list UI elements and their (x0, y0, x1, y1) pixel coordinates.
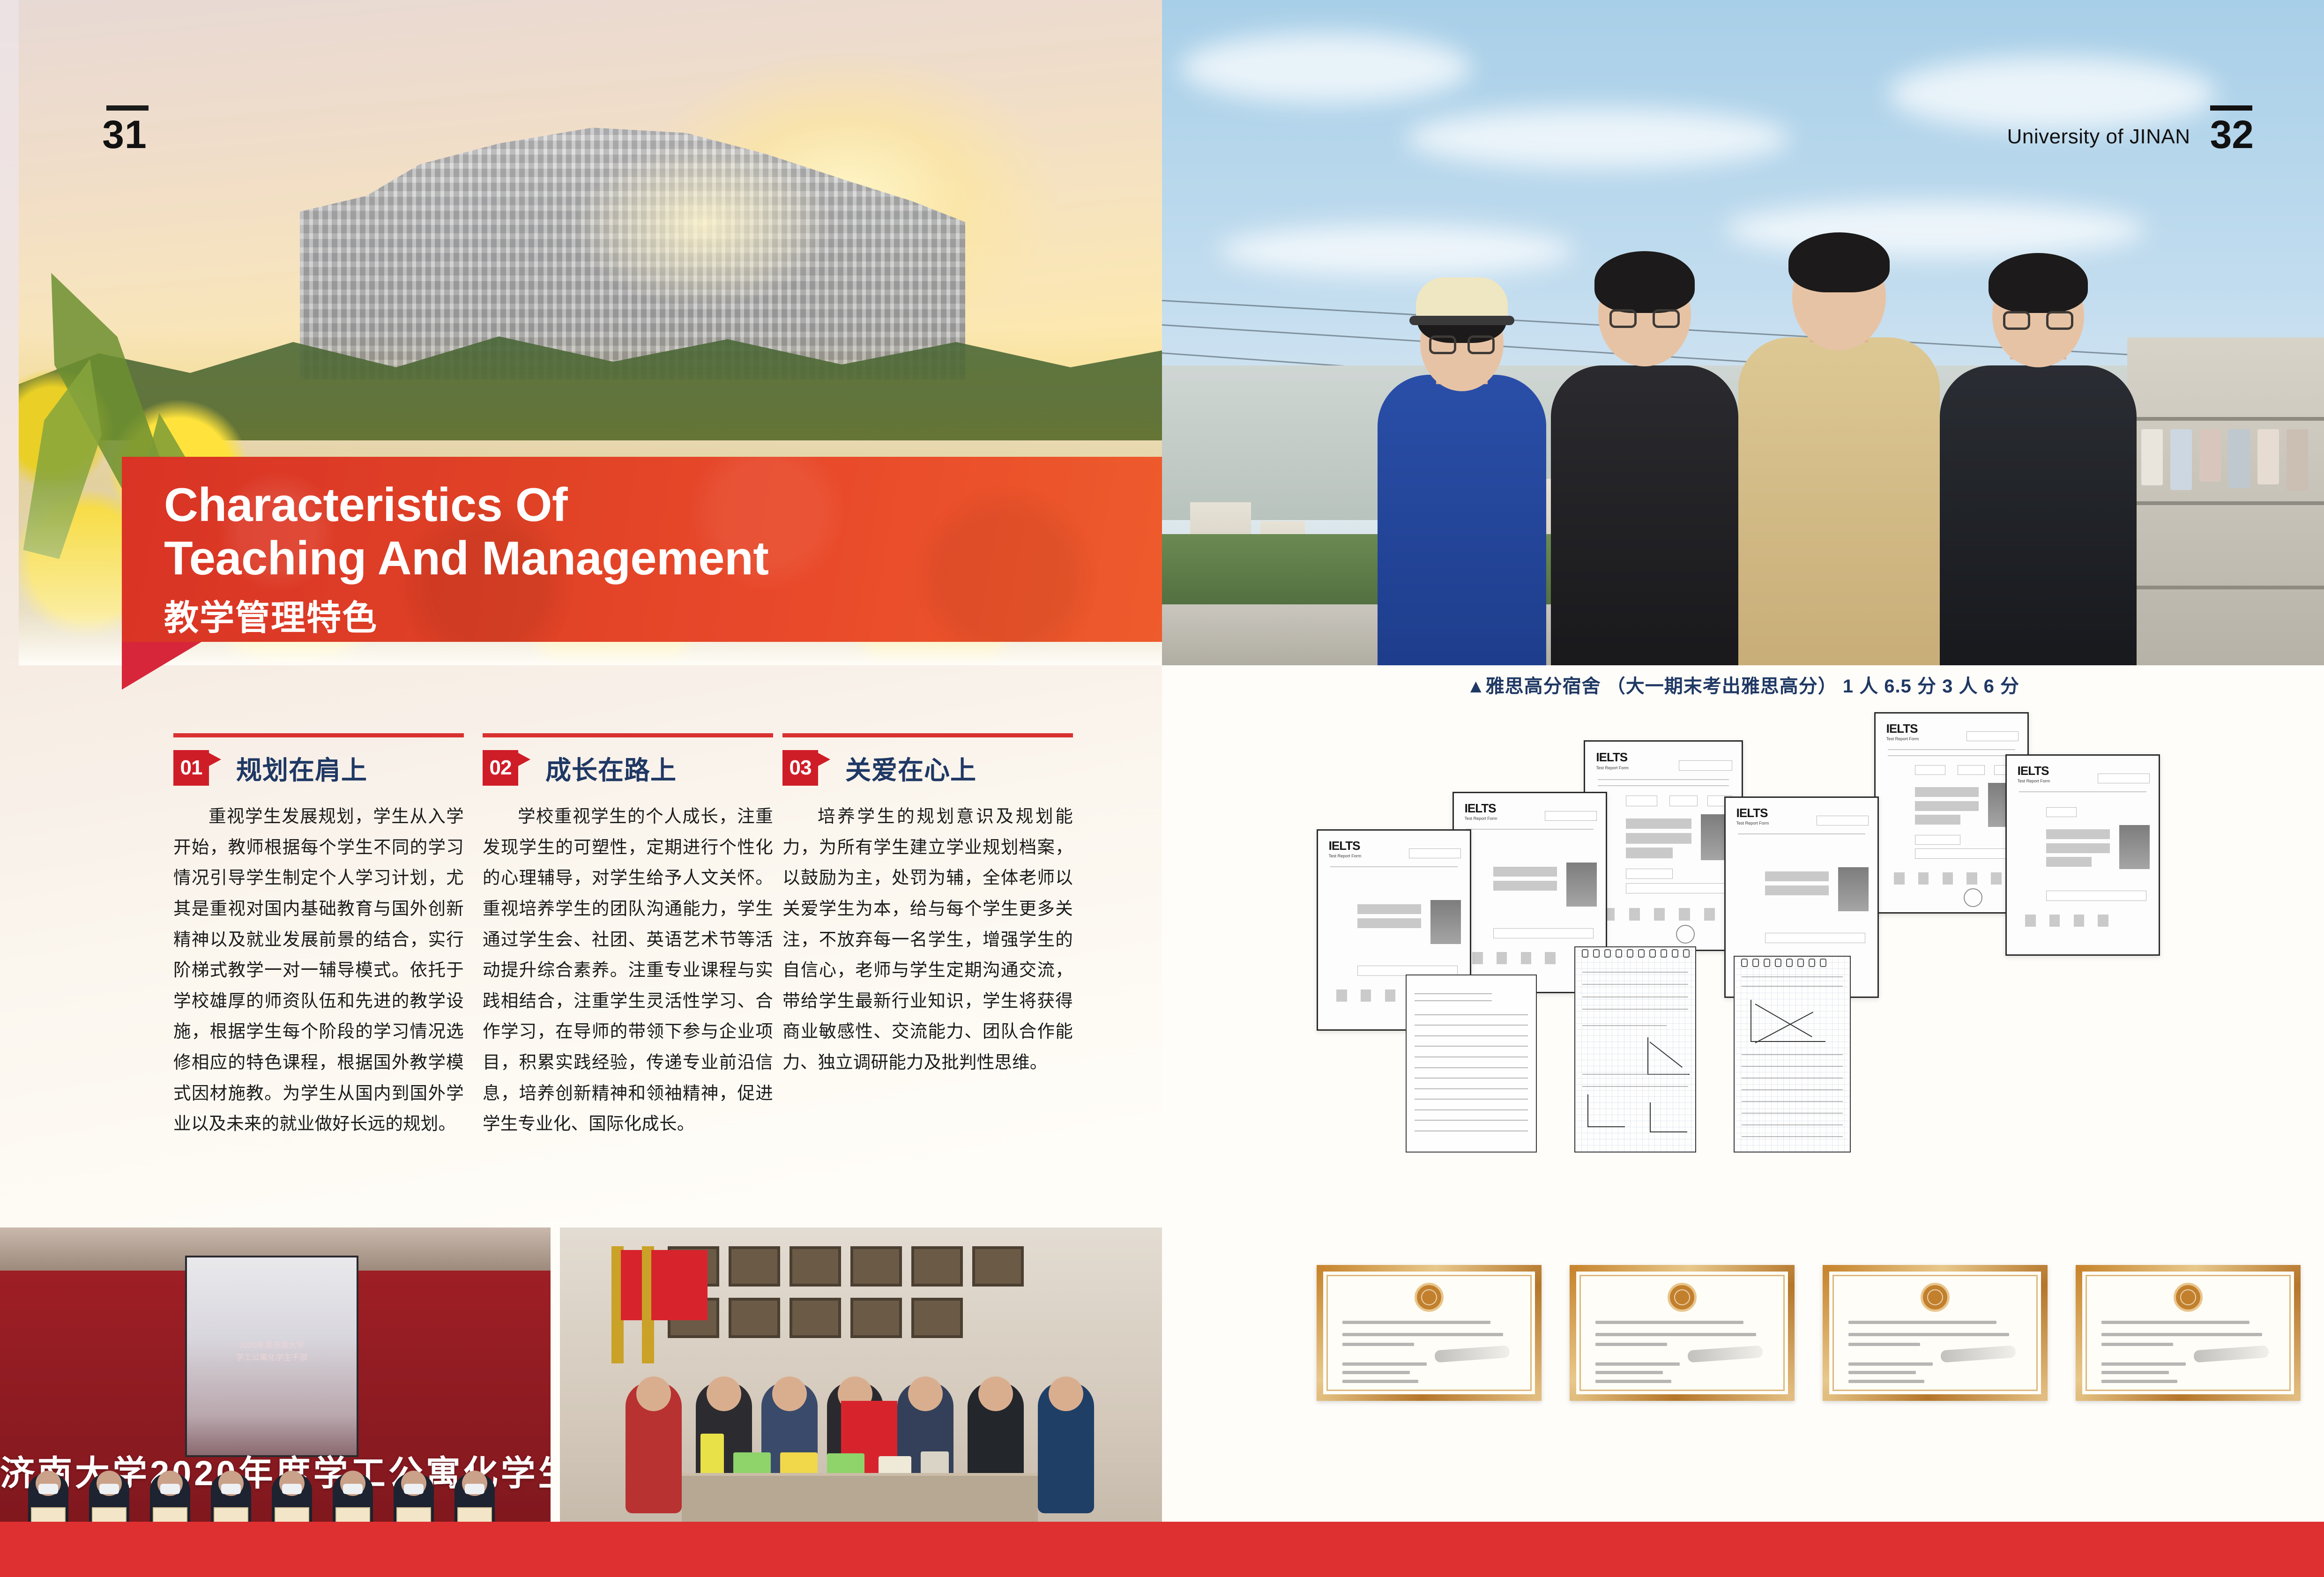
page-number-value: 32 (2210, 116, 2254, 154)
page-number-rule (106, 105, 149, 111)
person (626, 1382, 682, 1513)
student-hair (1989, 253, 2088, 313)
ielts-report-form: IELTS Test Report Form (1584, 740, 1743, 951)
title-chinese: 教学管理特色 (164, 590, 1162, 640)
ielts-logo: IELTS (1886, 722, 1918, 736)
section-heading: 规划在肩上 (236, 749, 367, 787)
ielts-logo: IELTS (1329, 839, 1360, 853)
page-number-rule (2210, 105, 2252, 111)
students-rooftop-photo (1162, 0, 2324, 665)
student-glasses-icon (1609, 309, 1680, 328)
page-number-right: 32 (2210, 105, 2254, 154)
lounge-photo (560, 1227, 1162, 1555)
column-top-rule (173, 733, 464, 737)
badge-arrow-icon (209, 753, 221, 766)
section-number-badge: 02 (483, 750, 518, 786)
screen-text: 2020年度济南大学 学工公寓化学生干部 (187, 1339, 357, 1363)
ielts-logo: IELTS (2018, 764, 2049, 778)
student-hair (1788, 232, 1890, 292)
cloud (1406, 108, 1790, 169)
wall-frame (790, 1246, 841, 1287)
column-top-rule (483, 733, 773, 737)
student-hair (1594, 251, 1695, 313)
handwritten-note-economics-1 (1574, 946, 1696, 1153)
section-body-text: 重视学生发展规划，学生从入学开始，教师根据每个学生不同的学习情况引导学生制定个人… (173, 801, 464, 1139)
ielts-report-form: IELTS Test Report Form (2005, 754, 2160, 956)
section-number-value: 02 (490, 756, 512, 780)
student-glasses-icon (2003, 311, 2073, 330)
ielts-logo: IELTS (1736, 806, 1768, 820)
section-number-badge: 01 (173, 750, 209, 786)
ielts-certificates-collage: IELTS Test Report Form (1162, 712, 2324, 1227)
wall-frame (911, 1246, 963, 1287)
right-page: University of JINAN 32 ▲雅思高分宿舍 （大一期末考出雅思… (1162, 0, 2324, 1577)
certificate-seal-icon (1921, 1283, 1950, 1312)
column-header: 01 规划在肩上 (173, 749, 464, 787)
left-page: 31 Characteristics Of Teaching And Manag… (0, 0, 1162, 1577)
title-english-line1: Characteristics Of (164, 478, 1162, 532)
student-cap (1416, 277, 1508, 320)
award-certificate (2076, 1265, 2301, 1401)
hanging-laundry (2141, 429, 2163, 485)
form-title: Test Report Form (1596, 766, 1629, 770)
section-column-3: 03 关爱在心上 培养学生的规划意识及规划能力，为所有学生建立学业规划档案，以鼓… (782, 733, 1073, 1078)
section-body-text: 培养学生的规划意识及规划能力，为所有学生建立学业规划档案，以鼓励为主，处罚为辅，… (782, 801, 1073, 1078)
column-header: 03 关爱在心上 (782, 749, 1073, 787)
award-certificate (1570, 1265, 1795, 1401)
column-top-rule (782, 733, 1073, 737)
flag-pole (642, 1246, 654, 1363)
form-title: Test Report Form (1736, 821, 1769, 826)
ceremony-photo: 2020年度济南大学 学工公寓化学生干部 济南大学2020年度学工公寓化学生干部… (0, 1227, 551, 1555)
handwritten-note-essay (1406, 974, 1537, 1153)
cloud (1181, 33, 1471, 103)
section-number-badge: 03 (782, 750, 818, 786)
form-title: Test Report Form (1886, 736, 1919, 741)
student-shirt (1378, 375, 1546, 665)
wall-frame (729, 1298, 780, 1338)
hanging-laundry (2199, 429, 2221, 482)
wall-frame (911, 1298, 963, 1338)
certificates-row (1162, 1265, 2324, 1420)
form-title: Test Report Form (2018, 779, 2050, 783)
section-number-value: 01 (180, 756, 202, 780)
certificate-seal-icon (1668, 1283, 1697, 1312)
wall-frame (850, 1298, 902, 1338)
student-4 (1940, 230, 2137, 665)
page-number-value: 31 (101, 116, 149, 154)
certificate-seal-icon (2174, 1283, 2203, 1312)
title-english-line2: Teaching And Management (164, 532, 1162, 585)
section-number-value: 03 (790, 756, 812, 780)
student-2 (1551, 230, 1738, 665)
wall-frame (729, 1246, 780, 1287)
form-title: Test Report Form (1329, 854, 1362, 858)
student-shirt (1940, 365, 2137, 665)
section-body-text: 学校重视学生的个人成长，注重发现学生的可塑性，定期进行个性化的心理辅导，对学生给… (483, 801, 773, 1139)
wall-frame (850, 1246, 902, 1287)
university-name: University of JINAN (2007, 125, 2190, 149)
student-shirt (1551, 365, 1738, 665)
page-number-left: 31 (101, 105, 149, 154)
certificate-seal-icon (1415, 1283, 1444, 1312)
section-heading: 关爱在心上 (845, 749, 976, 787)
right-page-white-gap (1162, 1461, 2324, 1522)
page-header-right: University of JINAN 32 (2007, 105, 2254, 154)
hanging-laundry (2170, 429, 2192, 490)
person (1038, 1382, 1094, 1513)
student-1 (1378, 253, 1546, 665)
award-certificate (1317, 1265, 1542, 1401)
badge-arrow-icon (518, 753, 530, 766)
balcony-structure (2127, 337, 2324, 665)
ielts-logo: IELTS (1596, 750, 1627, 765)
section-column-1: 01 规划在肩上 重视学生发展规划，学生从入学开始，教师根据每个学生不同的学习情… (173, 733, 464, 1139)
column-header: 02 成长在路上 (483, 749, 773, 787)
student-shirt (1738, 337, 1940, 665)
title-banner: Characteristics Of Teaching And Manageme… (122, 457, 1162, 642)
section-column-2: 02 成长在路上 学校重视学生的个人成长，注重发现学生的可塑性，定期进行个性化的… (483, 733, 773, 1139)
award-certificate (1823, 1265, 2048, 1401)
projection-screen: 2020年度济南大学 学工公寓化学生干部 (185, 1256, 358, 1457)
section-heading: 成长在路上 (545, 749, 677, 787)
wall-frame (790, 1298, 841, 1338)
ielts-logo: IELTS (1465, 801, 1496, 816)
bottom-red-bar (0, 1522, 2324, 1577)
hanging-laundry (2228, 429, 2250, 488)
handwritten-note-economics-2 (1734, 956, 1851, 1153)
hanging-laundry (2257, 429, 2279, 484)
wall-frame (972, 1246, 1024, 1287)
hanging-laundry (2287, 429, 2308, 491)
photo-caption: ▲雅思高分宿舍 （大一期末考出雅思高分） 1 人 6.5 分 3 人 6 分 (1162, 671, 2324, 698)
student-glasses-icon (1429, 335, 1495, 354)
student-3 (1738, 206, 1940, 665)
badge-arrow-icon (818, 753, 830, 766)
form-title: Test Report Form (1465, 816, 1497, 821)
flag-pole (611, 1246, 624, 1363)
brochure-spread: 31 Characteristics Of Teaching And Manag… (0, 0, 2324, 1577)
